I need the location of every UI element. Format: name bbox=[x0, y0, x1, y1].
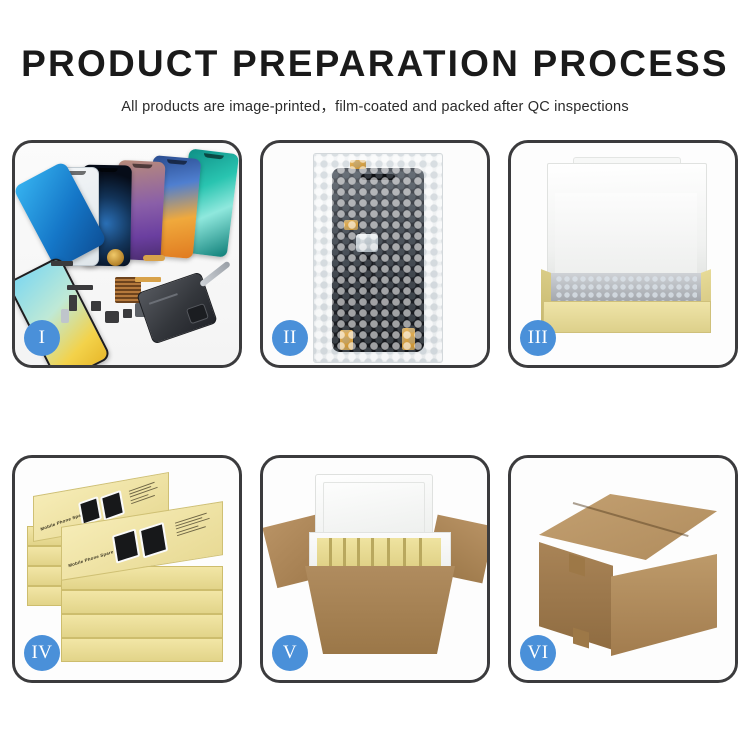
step-badge-5: V bbox=[272, 635, 308, 671]
process-step-4: Mobile Phone Spare Parts Mobile P bbox=[12, 455, 242, 683]
stacked-box bbox=[61, 590, 223, 614]
carton-body-icon bbox=[305, 566, 455, 654]
step-badge-4: IV bbox=[24, 635, 60, 671]
ribbon-part-icon bbox=[135, 277, 161, 282]
step-4-illustration: Mobile Phone Spare Parts Mobile P bbox=[15, 458, 239, 680]
sensor-part-icon bbox=[123, 309, 132, 318]
bubble-texture-shadow-icon bbox=[314, 154, 442, 362]
strip-part-icon bbox=[51, 261, 73, 266]
product-preparation-infographic: PRODUCT PREPARATION PROCESS All products… bbox=[0, 0, 750, 750]
header: PRODUCT PREPARATION PROCESS All products… bbox=[0, 0, 750, 116]
speaker-part-icon bbox=[105, 311, 119, 323]
carton-right-face-icon bbox=[611, 554, 717, 656]
box-label-screen-icon bbox=[139, 522, 168, 559]
step-2-illustration: II bbox=[263, 143, 487, 365]
bubble-bag-icon bbox=[313, 153, 443, 363]
box-stack-icon: Mobile Phone Spare Parts Mobile P bbox=[27, 474, 235, 670]
sim-tray-part-icon bbox=[61, 309, 69, 323]
step-3-illustration: III bbox=[511, 143, 735, 365]
step-badge-1: I bbox=[24, 320, 60, 356]
step-5-illustration: V bbox=[263, 458, 487, 680]
process-step-6: VI bbox=[508, 455, 738, 683]
button-part-icon bbox=[91, 301, 101, 311]
page-title: PRODUCT PREPARATION PROCESS bbox=[0, 45, 750, 84]
step-6-illustration: VI bbox=[511, 458, 735, 680]
connector-part-icon bbox=[69, 295, 77, 311]
screwdriver-tool-icon bbox=[199, 261, 231, 288]
process-step-grid: I II bbox=[12, 140, 738, 692]
box-label-lines bbox=[175, 511, 213, 538]
bubble-wrapped-contents-icon bbox=[555, 275, 697, 302]
coil-part-icon bbox=[107, 249, 124, 266]
stacked-box bbox=[61, 638, 223, 662]
page-subtitle: All products are image-printed，film-coat… bbox=[0, 95, 750, 116]
flex-cable-part-icon bbox=[143, 255, 165, 261]
step-badge-6: VI bbox=[520, 635, 556, 671]
foam-sheet-icon bbox=[555, 193, 697, 275]
bracket-part-icon bbox=[67, 285, 93, 290]
step-badge-2: II bbox=[272, 320, 308, 356]
process-step-2: II bbox=[260, 140, 490, 368]
step-1-illustration: I bbox=[15, 143, 239, 365]
step-badge-3: III bbox=[520, 320, 556, 356]
box-front-panel-icon bbox=[543, 301, 711, 333]
process-step-5: V bbox=[260, 455, 490, 683]
box-label-lines bbox=[129, 480, 161, 506]
process-step-3: III bbox=[508, 140, 738, 368]
process-step-1: I bbox=[12, 140, 242, 368]
carton-top-face-icon bbox=[539, 494, 717, 560]
box-label-screen-icon bbox=[112, 528, 140, 563]
stacked-box bbox=[61, 614, 223, 638]
